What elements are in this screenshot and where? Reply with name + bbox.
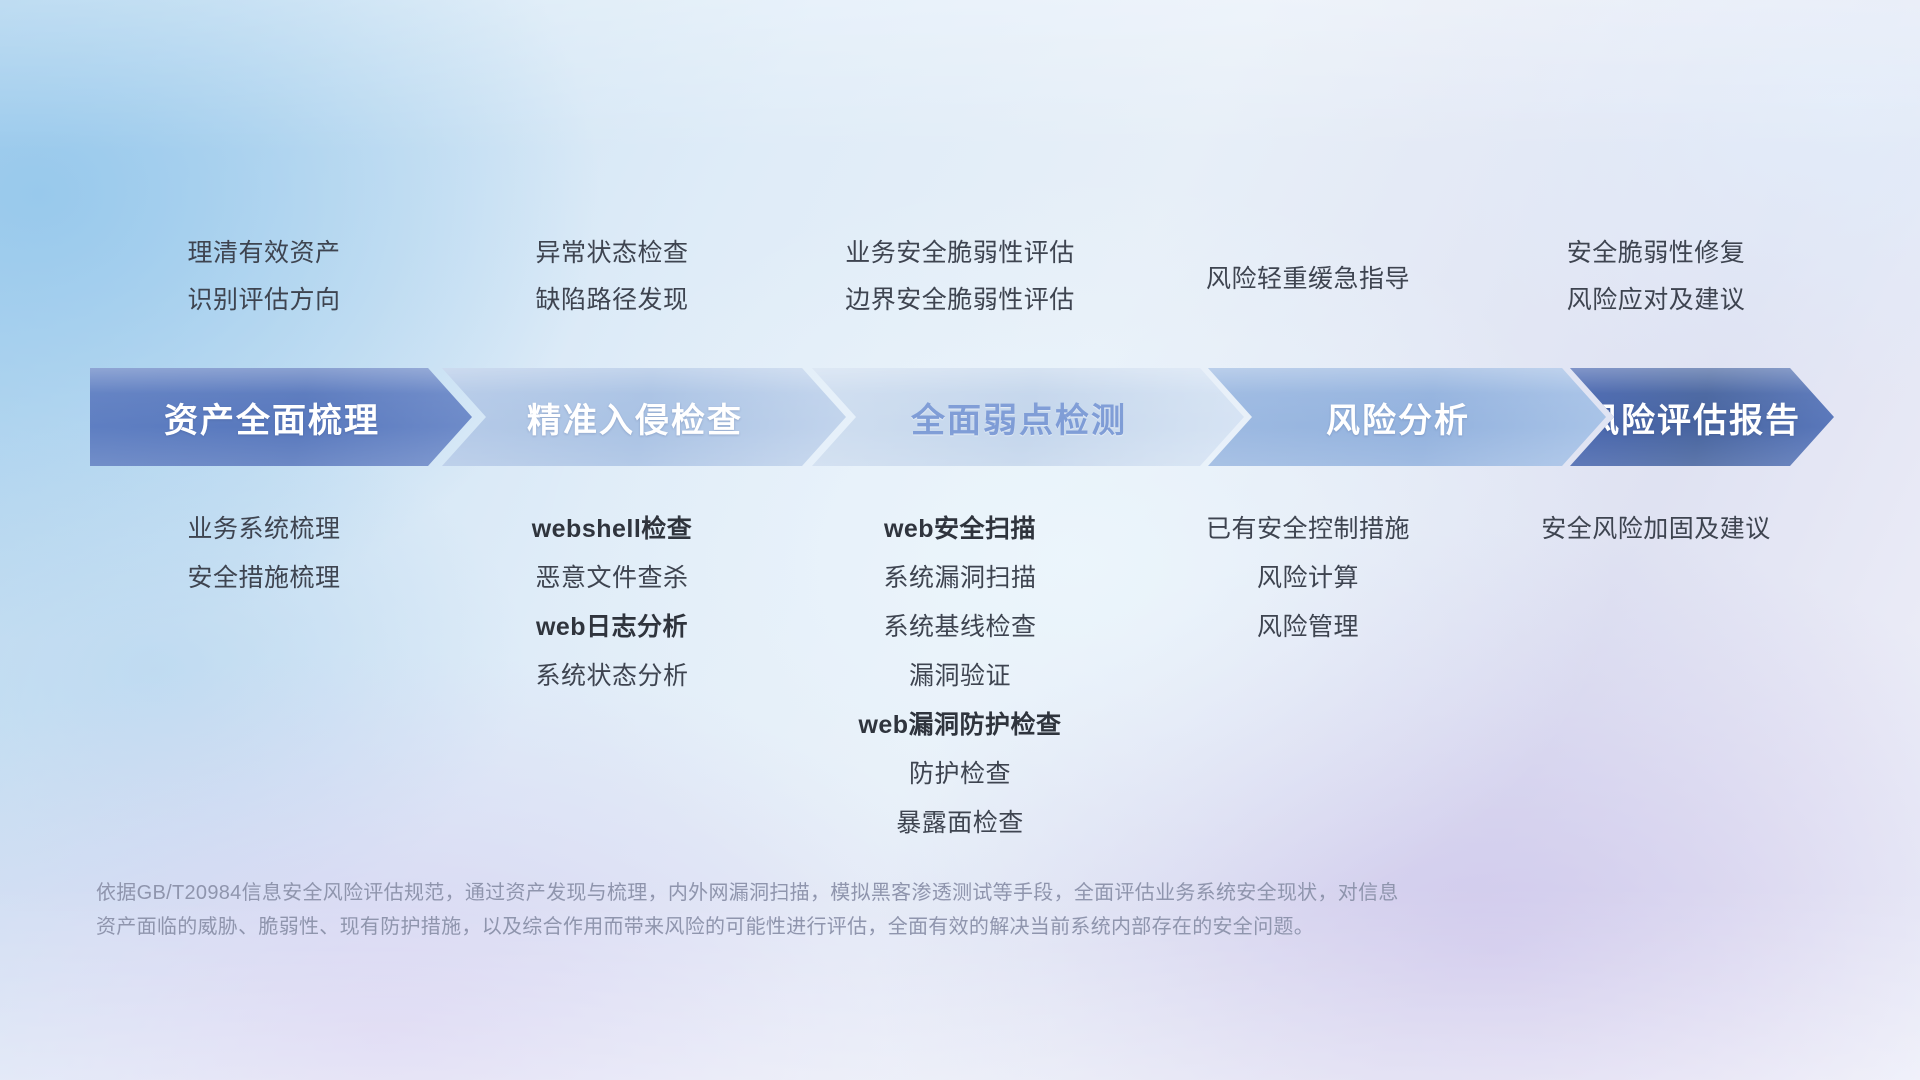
bottom-note: web日志分析 (438, 603, 786, 652)
stage-label: 全面弱点检测 (911, 393, 1145, 442)
bottom-note: 暴露面检查 (786, 799, 1134, 848)
bottom-note: 防护检查 (786, 750, 1134, 799)
top-note: 缺陷路径发现 (438, 277, 786, 324)
stage-label: 精准入侵检查 (527, 393, 761, 442)
bottom-note: web安全扫描 (786, 505, 1134, 554)
bottom-notes-asset-inventory: 业务系统梳理 安全措施梳理 (90, 505, 438, 603)
stage-label: 风险评估报告 (1585, 393, 1819, 442)
bottom-note: 漏洞验证 (786, 652, 1134, 701)
bottom-notes-risk-report: 安全风险加固及建议 (1482, 505, 1830, 554)
top-note: 异常状态检查 (438, 230, 786, 277)
process-arrow-band: 资产全面梳理 精准入侵检查 全面弱点检测 风险分析 风险评估报告 (90, 368, 1834, 466)
top-note: 风险应对及建议 (1482, 277, 1830, 324)
bottom-note: 风险计算 (1134, 554, 1482, 603)
top-notes-risk-analysis: 风险轻重缓急指导 (1134, 256, 1482, 303)
top-notes-risk-report: 安全脆弱性修复 风险应对及建议 (1482, 230, 1830, 324)
bottom-note: 系统状态分析 (438, 652, 786, 701)
footer-line: 资产面临的威胁、脆弱性、现有防护措施，以及综合作用而带来风险的可能性进行评估，全… (96, 910, 1626, 944)
stage-label: 资产全面梳理 (164, 393, 398, 442)
bottom-note: 业务系统梳理 (90, 505, 438, 554)
stage-arrow-risk-report[interactable]: 风险评估报告 (1570, 368, 1834, 466)
bottom-note: web漏洞防护检查 (786, 701, 1134, 750)
stage-arrow-risk-analysis[interactable]: 风险分析 (1208, 368, 1606, 466)
top-note: 理清有效资产 (90, 230, 438, 277)
stage-arrow-weakness-detection[interactable]: 全面弱点检测 (812, 368, 1244, 466)
top-notes-intrusion-check: 异常状态检查 缺陷路径发现 (438, 230, 786, 324)
top-note: 风险轻重缓急指导 (1134, 256, 1482, 303)
top-notes-weakness-detection: 业务安全脆弱性评估 边界安全脆弱性评估 (786, 230, 1134, 324)
bottom-note: 恶意文件查杀 (438, 554, 786, 603)
footer-description: 依据GB/T20984信息安全风险评估规范，通过资产发现与梳理，内外网漏洞扫描，… (96, 876, 1626, 944)
stage-arrow-asset-inventory[interactable]: 资产全面梳理 (90, 368, 472, 466)
slide-canvas: 理清有效资产 识别评估方向 业务系统梳理 安全措施梳理 异常状态检查 缺陷路径发… (0, 0, 1920, 1080)
footer-line: 依据GB/T20984信息安全风险评估规范，通过资产发现与梳理，内外网漏洞扫描，… (96, 876, 1626, 910)
stage-label: 风险分析 (1326, 393, 1488, 442)
stage-arrow-intrusion-check[interactable]: 精准入侵检查 (442, 368, 846, 466)
top-note: 业务安全脆弱性评估 (786, 230, 1134, 277)
bottom-notes-risk-analysis: 已有安全控制措施 风险计算 风险管理 (1134, 505, 1482, 652)
bottom-note: 系统基线检查 (786, 603, 1134, 652)
bottom-note: 系统漏洞扫描 (786, 554, 1134, 603)
bottom-note: webshell检查 (438, 505, 786, 554)
bottom-notes-intrusion-check: webshell检查 恶意文件查杀 web日志分析 系统状态分析 (438, 505, 786, 701)
bottom-notes-weakness-detection: web安全扫描 系统漏洞扫描 系统基线检查 漏洞验证 web漏洞防护检查 防护检… (786, 505, 1134, 848)
bottom-note: 已有安全控制措施 (1134, 505, 1482, 554)
bottom-note: 风险管理 (1134, 603, 1482, 652)
top-note: 边界安全脆弱性评估 (786, 277, 1134, 324)
top-note: 安全脆弱性修复 (1482, 230, 1830, 277)
top-notes-asset-inventory: 理清有效资产 识别评估方向 (90, 230, 438, 324)
bottom-note: 安全措施梳理 (90, 554, 438, 603)
bottom-note: 安全风险加固及建议 (1482, 505, 1830, 554)
top-note: 识别评估方向 (90, 277, 438, 324)
